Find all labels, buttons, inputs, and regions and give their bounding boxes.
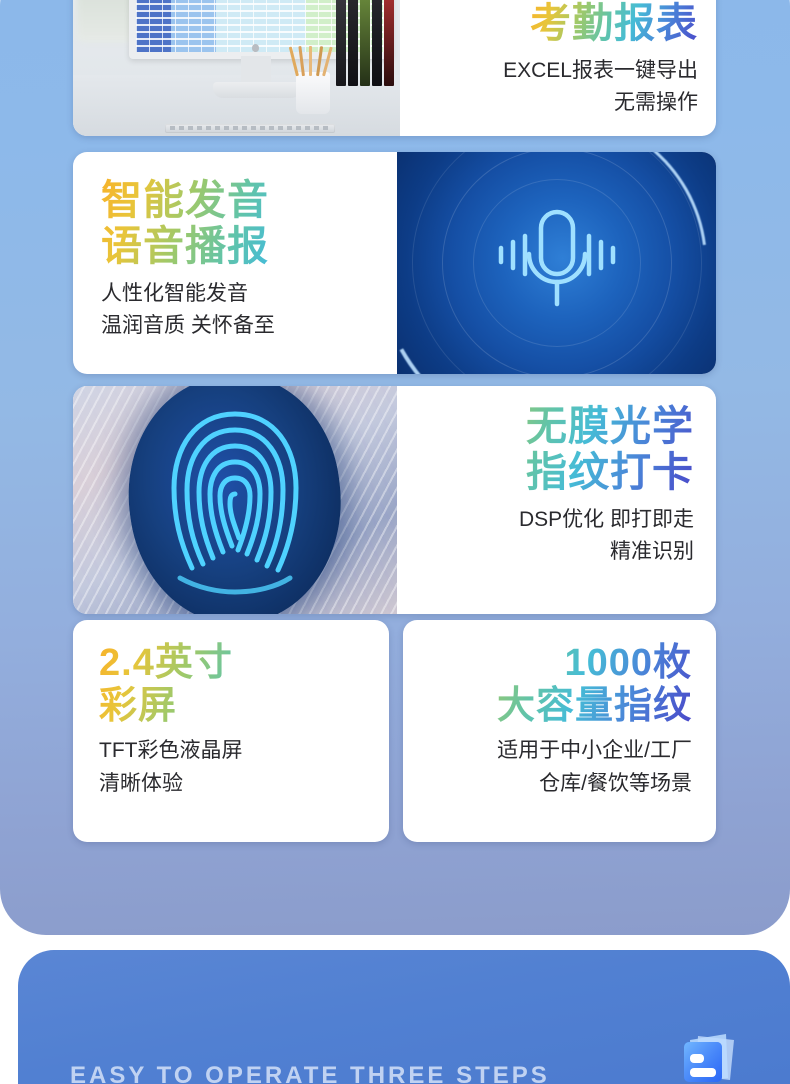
feature-card-capacity[interactable]: 1000枚 大容量指纹 适用于中小企业/工厂 仓库/餐饮等场景 xyxy=(403,620,716,842)
report-title: 考勤报表 xyxy=(530,1,698,47)
feature-card-voice[interactable]: 智能发音 语音播报 人性化智能发音 温润音质 关怀备至 xyxy=(73,152,716,374)
capacity-subtitle: 适用于中小企业/工厂 仓库/餐饮等场景 xyxy=(403,735,692,800)
keyboard xyxy=(165,124,335,133)
microphone-icon xyxy=(477,198,637,328)
monitor-base xyxy=(213,82,301,98)
screen-subtitle: TFT彩色液晶屏 清晰体验 xyxy=(99,735,389,800)
logo-dot xyxy=(252,44,259,52)
bottom-english-title: EASY TO OPERATE THREE STEPS xyxy=(70,1062,550,1084)
fingerprint-crater-photo xyxy=(73,386,397,614)
fingerprint-icon xyxy=(140,392,330,608)
voice-text-block: 智能发音 语音播报 人性化智能发音 温润音质 关怀备至 xyxy=(73,152,397,374)
feature-card-report[interactable]: 考勤报表 EXCEL报表一键导出 无需操作 xyxy=(73,0,716,136)
page-root: 考勤报表 EXCEL报表一键导出 无需操作 智能发音 语音播报 人性化智能发音 … xyxy=(0,0,790,1084)
voice-subtitle: 人性化智能发音 温润音质 关怀备至 xyxy=(101,278,397,343)
fingerprint-subtitle: DSP优化 即打即走 精准识别 xyxy=(407,504,694,569)
feature-card-screen[interactable]: 2.4英寸 彩屏 TFT彩色液晶屏 清晰体验 xyxy=(73,620,389,842)
desktop-spreadsheet-photo xyxy=(73,0,400,136)
microphone-glow-photo xyxy=(397,152,716,374)
fingerprint-text-block: 无膜光学 指纹打卡 DSP优化 即打即走 精准识别 xyxy=(397,386,716,614)
bottom-blue-section: EASY TO OPERATE THREE STEPS xyxy=(18,950,790,1084)
voice-title: 智能发音 语音播报 xyxy=(101,178,397,270)
pencil-cup xyxy=(296,72,330,114)
report-text-block: 考勤报表 EXCEL报表一键导出 无需操作 xyxy=(400,0,716,136)
feature-card-fingerprint[interactable]: 无膜光学 指纹打卡 DSP优化 即打即走 精准识别 xyxy=(73,386,716,614)
capacity-title: 1000枚 大容量指纹 xyxy=(403,642,692,727)
books xyxy=(336,0,400,86)
fingerprint-title: 无膜光学 指纹打卡 xyxy=(407,404,694,496)
stacked-cards-icon xyxy=(676,1028,742,1084)
screen-title: 2.4英寸 彩屏 xyxy=(99,642,389,727)
pencils xyxy=(294,42,330,76)
plant-decoration xyxy=(77,0,135,42)
report-subtitle: EXCEL报表一键导出 无需操作 xyxy=(503,55,698,120)
